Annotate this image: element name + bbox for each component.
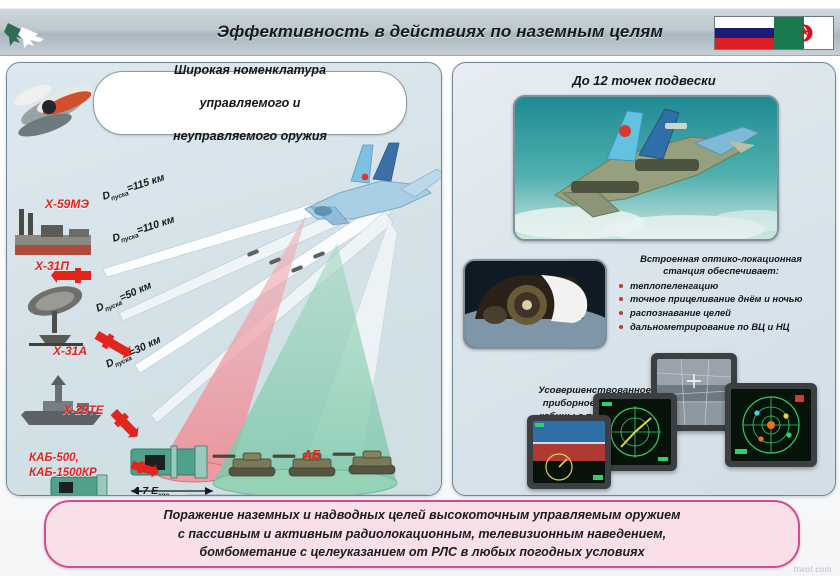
hardpoints-title: До 12 точек подвески	[453, 73, 835, 88]
mfd-attitude-screen	[533, 421, 605, 483]
weapon-label-kab: КАБ-500,КАБ-1500КР	[29, 451, 97, 481]
bullet-dot-icon	[619, 297, 623, 301]
ols-bullet-0: теплопеленгацию	[613, 280, 829, 292]
ols-bullet-2: распознавание целей	[613, 307, 829, 319]
weapons-callout: Широкая номенклатура управляемого и неуп…	[93, 71, 407, 135]
star-icon: ★	[800, 28, 810, 39]
weapon-label-x59me: Х-59МЭ	[45, 197, 89, 211]
aircraft-systems-panel: До 12 точек подвески	[452, 62, 836, 496]
bullet-dot-icon	[619, 325, 623, 329]
ols-bullet-3: дальнометрирование по ВЦ и НЦ	[613, 321, 829, 333]
bullet-dot-icon	[619, 311, 623, 315]
infographic-slide: Эффективность в действиях по наземным це…	[0, 0, 840, 576]
caption-line-2: с пассивным и активным радиолокационным,…	[178, 525, 666, 544]
mfd-radar-display[interactable]	[725, 383, 817, 467]
weapon-label-x31a: Х-31А	[53, 344, 87, 358]
ols-sensor-photo	[463, 259, 607, 349]
summary-caption: Поражение наземных и надводных целей выс…	[44, 500, 800, 568]
russia-flag	[715, 17, 774, 49]
page-title: Эффективность в действиях по наземным це…	[180, 9, 700, 55]
algeria-flag: ★	[774, 17, 833, 49]
mfd-radar-screen	[731, 389, 811, 461]
callout-line-3: неуправляемого оружия	[173, 128, 327, 145]
cep-label: 4-7 Екво	[133, 485, 169, 496]
callout-line-2: управляемого и	[173, 95, 327, 112]
ols-bullet-1: точное прицеливание днём и ночью	[613, 293, 829, 305]
bomb-zone-label: АБ	[303, 448, 321, 462]
header-bar: Эффективность в действиях по наземным це…	[0, 8, 840, 56]
weapon-label-x29te: Х-29ТЕ	[63, 403, 104, 417]
callout-line-1: Широкая номенклатура	[173, 62, 327, 78]
mfd-attitude-display[interactable]	[527, 415, 611, 489]
caption-line-1: Поражение наземных и надводных целей выс…	[164, 506, 681, 525]
aircraft-silhouette-icon	[4, 19, 74, 49]
flags-group: ★	[714, 16, 834, 50]
weapon-label-x31p: Х-31П	[35, 259, 69, 273]
caption-line-3: бомбометание с целеуказанием от РЛС в лю…	[199, 543, 644, 562]
weapons-diagram-panel: Широкая номенклатура управляемого и неуп…	[6, 62, 442, 496]
ols-heading: Встроенная оптико-локационная станция об…	[613, 253, 829, 277]
bullet-dot-icon	[619, 284, 623, 288]
watermark: ttwol.com	[794, 565, 832, 574]
ols-description: Встроенная оптико-локационная станция об…	[613, 253, 829, 334]
su30-photo	[513, 95, 779, 241]
